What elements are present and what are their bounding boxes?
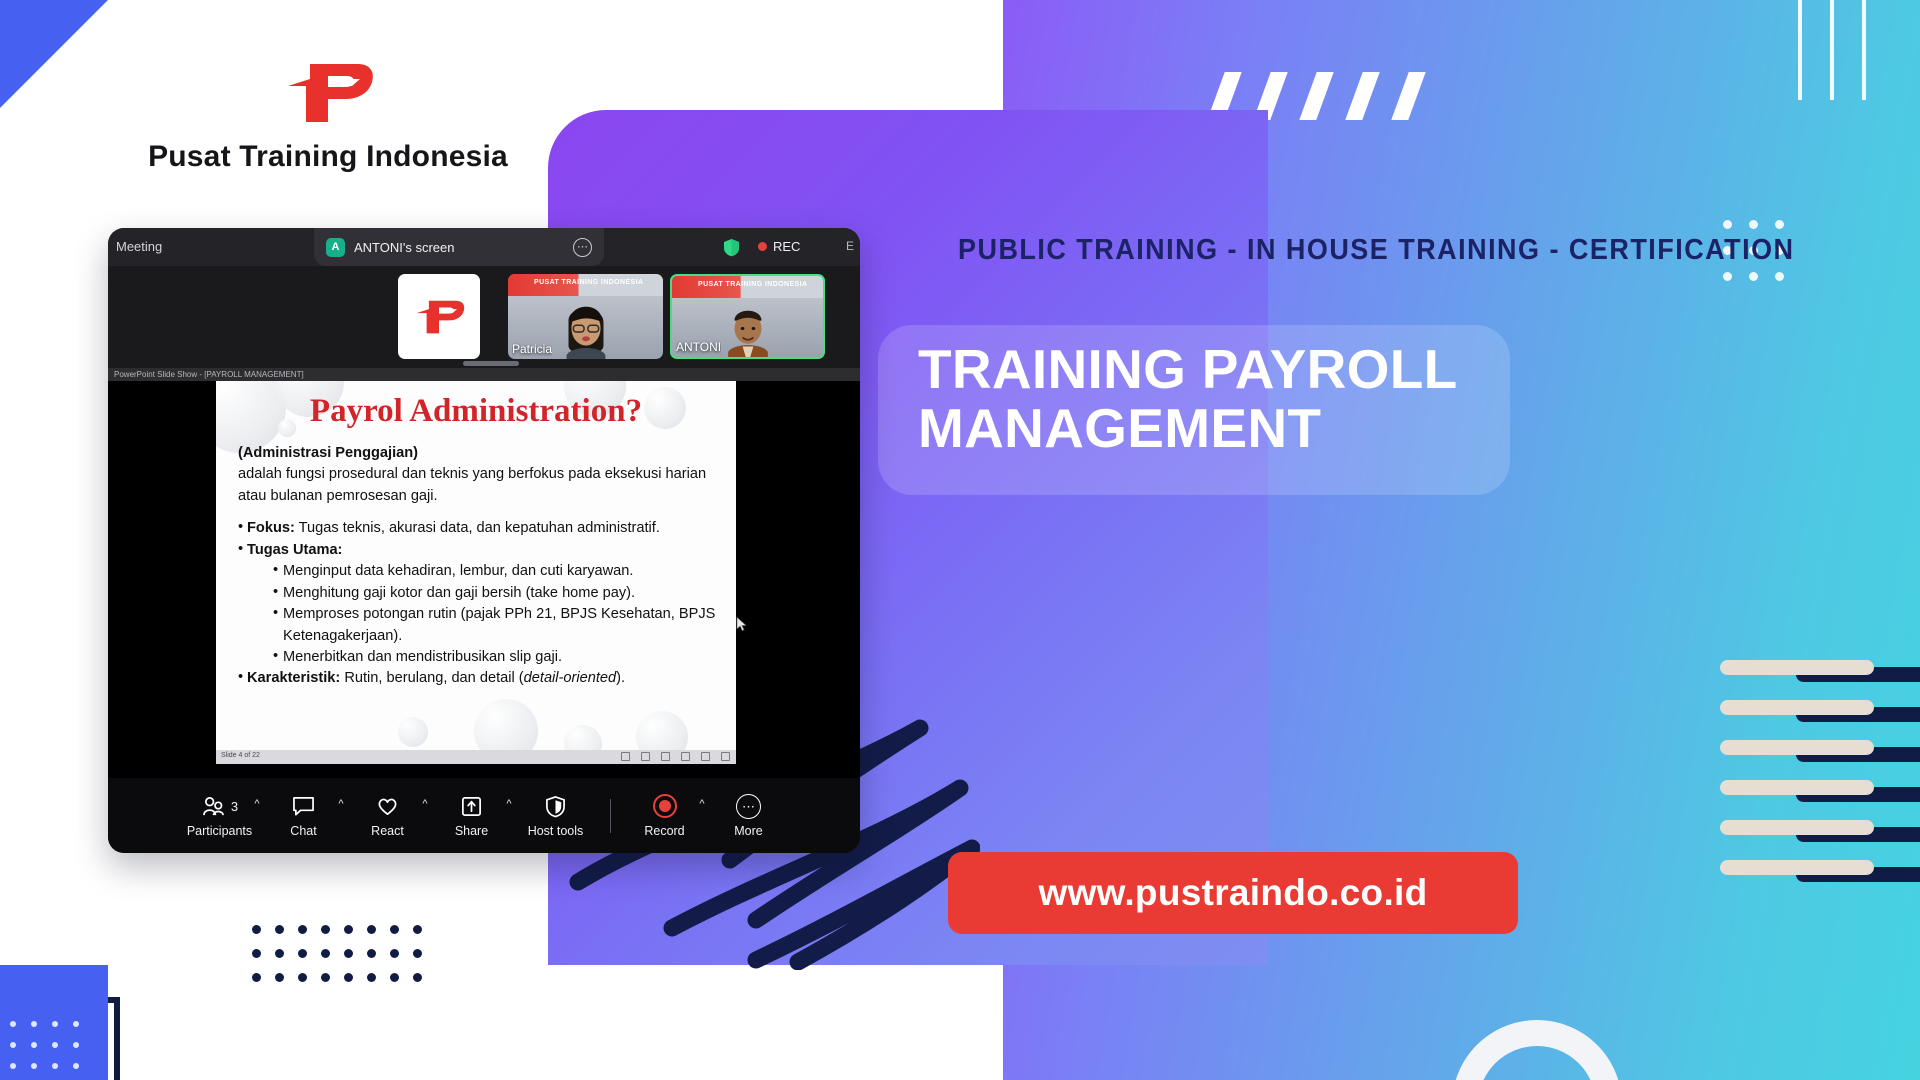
shield-encryption-icon[interactable] (723, 238, 740, 257)
toolbar-record-button[interactable]: Record ^ (623, 793, 707, 838)
shared-screen-area: PowerPoint Slide Show - [PAYROLL MANAGEM… (108, 368, 860, 778)
striped-bars-decoration (1720, 660, 1920, 900)
slide-bullet: Karakteristik: Rutin, berulang, dan deta… (238, 668, 716, 689)
slide-sub-bullet-list: Menginput data kehadiran, lembur, dan cu… (273, 561, 716, 668)
slide-bullet: Tugas Utama: Menginput data kehadiran, l… (238, 540, 716, 669)
participant-tile-patricia[interactable]: PUSAT TRAINING INDONESIA Patricia (508, 274, 663, 359)
slideshow-view-icon[interactable] (681, 752, 690, 761)
zoom-topbar-right-label: E (846, 239, 854, 253)
reading-view-icon[interactable] (661, 752, 670, 761)
bullet-text-italic: detail-oriented (524, 670, 617, 686)
zoom-bottom-toolbar[interactable]: 3 Participants ^ Chat ^ (108, 778, 860, 853)
toolbar-host-tools-button[interactable]: Host tools (514, 793, 598, 838)
participant-video-antoni (712, 301, 784, 359)
slide-subtitle: (Administrasi Penggajian) (238, 443, 716, 464)
sorter-view-icon[interactable] (641, 752, 650, 761)
bullet-text: Tugas teknis, akurasi data, dan kepatuha… (295, 520, 660, 536)
website-url-button[interactable]: www.pustraindo.co.id (948, 852, 1518, 934)
slide-bullet-list: Fokus: Tugas teknis, akurasi data, dan k… (238, 518, 716, 690)
participant-tile-bella[interactable] (398, 274, 480, 359)
recording-indicator: REC (758, 239, 800, 254)
chevron-up-icon[interactable]: ^ (422, 798, 427, 810)
powerpoint-title-bar: PowerPoint Slide Show - [PAYROLL MANAGEM… (108, 368, 860, 381)
powerpoint-view-icons[interactable] (621, 752, 730, 761)
participant-video-patricia (547, 299, 625, 359)
bullet-label: Karakteristik: (247, 670, 340, 686)
brand-name: Pusat Training Indonesia (128, 140, 528, 174)
sharing-user-avatar: A (326, 238, 345, 257)
react-heart-icon (376, 796, 399, 817)
toolbar-chat-button[interactable]: Chat ^ (262, 793, 346, 838)
zoom-meeting-label: Meeting (116, 239, 162, 254)
thumbnail-scroll-handle[interactable] (463, 361, 519, 366)
chevron-up-icon[interactable]: ^ (699, 798, 704, 810)
powerpoint-status-bar: Slide 4 of 22 (216, 750, 736, 764)
participant-name-patricia: Patricia (512, 342, 552, 356)
toolbar-participants-button[interactable]: 3 Participants ^ (178, 793, 262, 838)
slide-intro: adalah fungsi prosedural dan teknis yang… (238, 464, 716, 507)
ellipsis-icon[interactable]: ⋯ (573, 238, 592, 257)
slide-sub-bullet: Memproses potongan rutin (pajak PPh 21, … (273, 604, 716, 647)
slide-title: Payrol Administration? (216, 393, 736, 430)
participant-name-antoni: ANTONI (676, 340, 721, 354)
more-ellipsis-icon: ⋯ (736, 794, 761, 819)
record-label: REC (773, 239, 800, 254)
chevron-up-icon[interactable]: ^ (506, 798, 511, 810)
brand-block: Pusat Training Indonesia (128, 62, 528, 174)
slide-counter: Slide 4 of 22 (221, 752, 260, 759)
poster-canvas: Pusat Training Indonesia PUBLIC TRAINING… (0, 0, 1920, 1080)
chevron-up-icon[interactable]: ^ (254, 798, 259, 810)
toolbar-react-button[interactable]: React ^ (346, 793, 430, 838)
record-dot-icon (758, 242, 767, 251)
vertical-lines-decoration (1798, 0, 1868, 100)
toolbar-label: React (371, 824, 404, 838)
slide-sub-bullet: Menginput data kehadiran, lembur, dan cu… (273, 561, 716, 582)
dot-grid-bottom-left (252, 925, 436, 997)
zoom-sharing-pill[interactable]: A ANTONI's screen ⋯ (314, 228, 604, 266)
toolbar-label: Chat (290, 824, 316, 838)
toolbar-label: Share (455, 824, 488, 838)
bullet-text-tail: ). (616, 670, 625, 686)
sharing-screen-label: ANTONI's screen (354, 240, 455, 255)
slide-sub-bullet: Menghitung gaji kotor dan gaji bersih (t… (273, 583, 716, 604)
promo-title-line1: TRAINING PAYROLL (918, 340, 1518, 399)
toolbar-divider (610, 799, 611, 833)
toolbar-share-button[interactable]: Share ^ (430, 793, 514, 838)
banner-text: PUSAT TRAINING INDONESIA (698, 281, 807, 288)
toolbar-label: Record (644, 824, 684, 838)
participant-tile-antoni[interactable]: PUSAT TRAINING INDONESIA ANTONI (670, 274, 825, 359)
fit-slide-icon[interactable] (721, 752, 730, 761)
virtual-background-banner: PUSAT TRAINING INDONESIA (672, 276, 823, 298)
participants-icon (201, 796, 226, 817)
record-icon (653, 794, 677, 818)
participant-thumbnail-strip: Bella - Pusat Training I... PUSAT TRAINI… (108, 266, 860, 368)
toolbar-label: Participants (187, 824, 252, 838)
presentation-slide: Payrol Administration? (Administrasi Pen… (216, 381, 736, 764)
bullet-label: Fokus: (247, 520, 295, 536)
dot-grid-in-blue-square (10, 1021, 94, 1080)
slide-sub-bullet: Menerbitkan dan mendistribusikan slip ga… (273, 647, 716, 668)
promo-title-line2: MANAGEMENT (918, 399, 1518, 458)
share-screen-icon (460, 795, 483, 818)
promo-kicker: PUBLIC TRAINING - IN HOUSE TRAINING - CE… (958, 234, 1795, 267)
zoom-meeting-window[interactable]: Meeting A ANTONI's screen ⋯ REC E (108, 228, 860, 853)
slide-bullet: Fokus: Tugas teknis, akurasi data, dan k… (238, 518, 716, 539)
participants-count: 3 (231, 799, 238, 814)
website-url-label: www.pustraindo.co.id (1038, 872, 1427, 914)
promo-title: TRAINING PAYROLL MANAGEMENT (918, 340, 1518, 458)
bullet-label: Tugas Utama: (247, 542, 342, 558)
toolbar-more-button[interactable]: ⋯ More (707, 793, 791, 838)
host-tools-shield-icon (545, 795, 566, 818)
zoom-out-icon[interactable] (701, 752, 710, 761)
chevron-up-icon[interactable]: ^ (338, 798, 343, 810)
mouse-cursor-icon (736, 616, 747, 633)
banner-text: PUSAT TRAINING INDONESIA (534, 279, 643, 286)
toolbar-label: Host tools (528, 824, 584, 838)
zoom-topbar: Meeting A ANTONI's screen ⋯ REC E (108, 228, 860, 266)
slide-body: (Administrasi Penggajian) adalah fungsi … (238, 443, 716, 690)
pusat-training-p-logo-icon (280, 62, 376, 124)
chat-icon (292, 796, 315, 817)
toolbar-label: More (734, 824, 762, 838)
bullet-text: Rutin, berulang, dan detail ( (340, 670, 523, 686)
normal-view-icon[interactable] (621, 752, 630, 761)
virtual-background-banner: PUSAT TRAINING INDONESIA (508, 274, 663, 296)
pusat-training-p-logo-icon (412, 299, 466, 335)
